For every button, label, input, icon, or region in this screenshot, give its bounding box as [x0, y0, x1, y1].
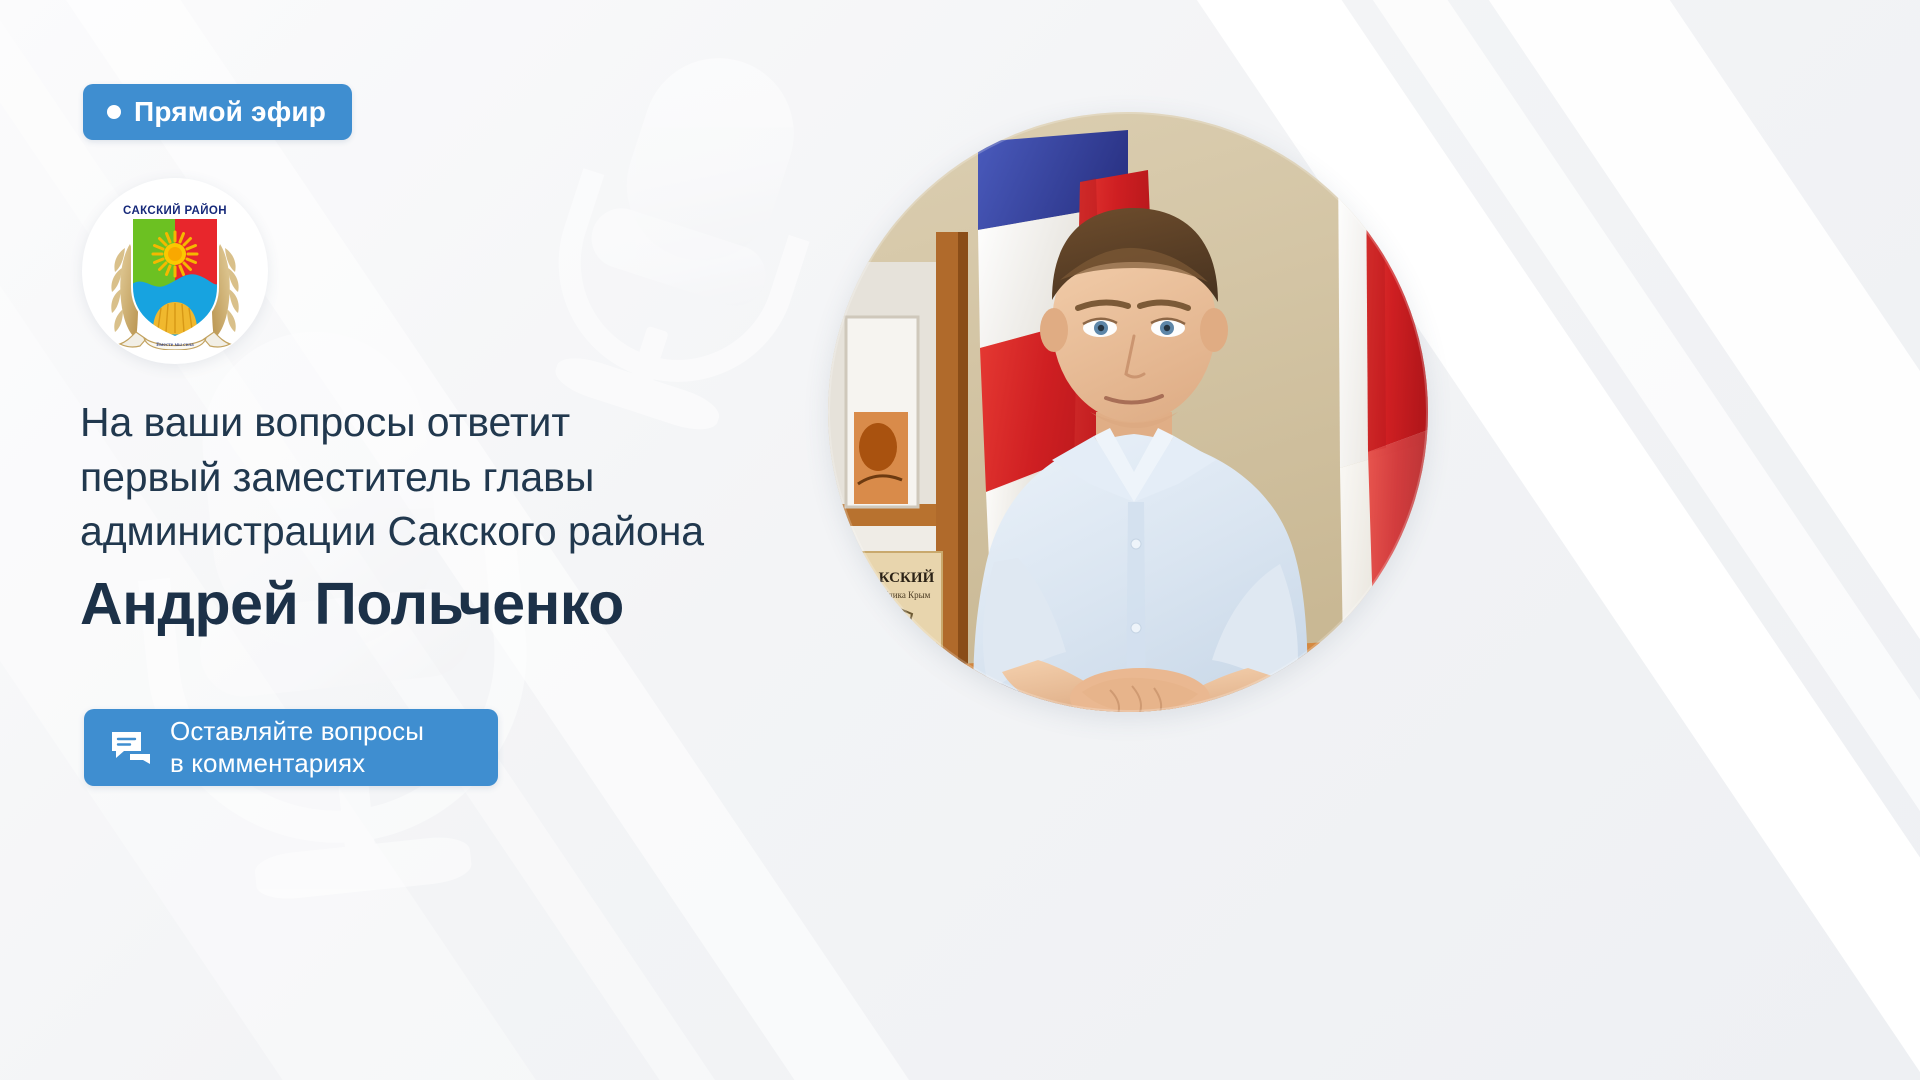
- cta-line-2: в комментариях: [170, 748, 424, 779]
- person-name: Андрей Польченко: [80, 570, 880, 638]
- coat-of-arms-icon: САКСКИЙ РАЙОН Вместе мы сила: [100, 192, 250, 350]
- subtitle-line-1: На ваши вопросы ответит: [80, 395, 870, 450]
- subtitle-line-2: первый заместитель главы: [80, 450, 870, 505]
- leave-questions-label: Оставляйте вопросы в комментариях: [170, 716, 424, 778]
- leave-questions-button[interactable]: Оставляйте вопросы в комментариях: [84, 709, 498, 786]
- portrait-illustration: САКСКИЙ Республика Крым: [828, 112, 1428, 712]
- sun-icon: [153, 232, 197, 276]
- subtitle-text: На ваши вопросы ответит первый заместите…: [80, 395, 870, 559]
- left-content-column: Прямой эфир: [0, 0, 900, 1080]
- live-broadcast-badge[interactable]: Прямой эфир: [83, 84, 352, 140]
- live-badge-label: Прямой эфир: [134, 96, 326, 128]
- district-emblem: САКСКИЙ РАЙОН Вместе мы сила: [82, 178, 268, 364]
- live-dot-icon: [107, 105, 121, 119]
- emblem-title: САКСКИЙ РАЙОН: [123, 204, 227, 217]
- shield: [132, 218, 218, 342]
- emblem-motto: Вместе мы сила: [156, 342, 194, 348]
- chat-bubbles-icon: [110, 730, 152, 766]
- subtitle-line-3: администрации Сакского района: [80, 504, 870, 559]
- portrait-photo: САКСКИЙ Республика Крым: [828, 112, 1428, 712]
- cta-line-1: Оставляйте вопросы: [170, 716, 424, 747]
